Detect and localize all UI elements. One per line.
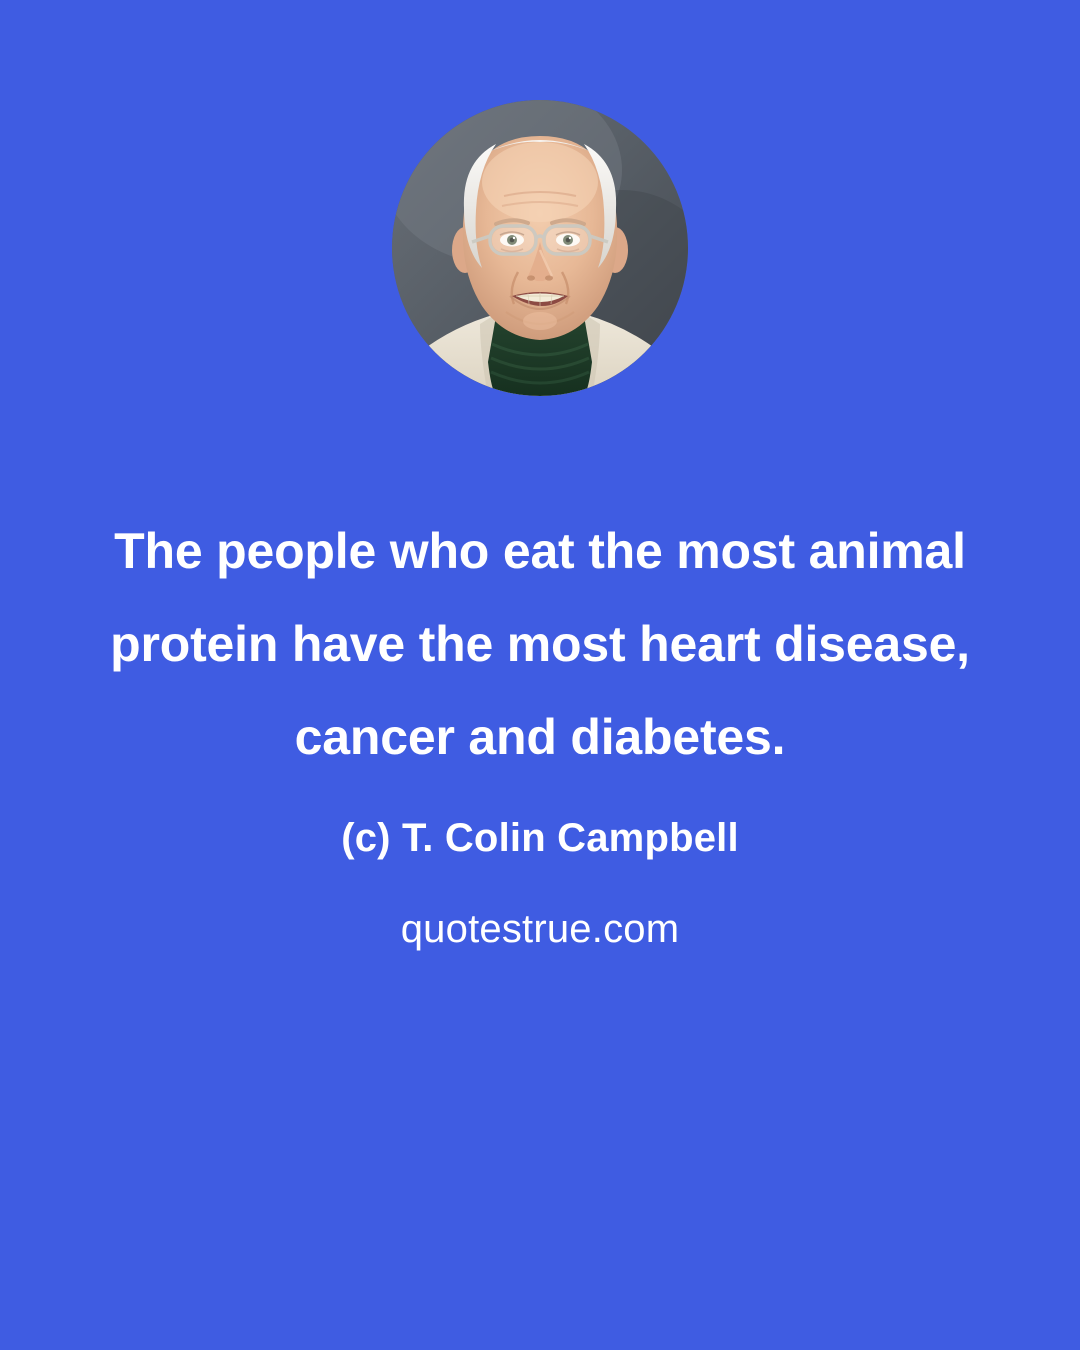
quote-card: The people who eat the most animal prote… xyxy=(0,0,1080,1350)
avatar xyxy=(392,100,688,396)
quote-attribution: (c) T. Colin Campbell xyxy=(0,812,1080,864)
quote-line-1: The people who eat the most animal xyxy=(64,505,1016,598)
quote-line-2: protein have the most heart disease, xyxy=(64,598,1016,691)
portrait-photo-illustration xyxy=(392,100,688,396)
source-website: quotestrue.com xyxy=(0,903,1080,955)
quote-line-3: cancer and diabetes. xyxy=(64,691,1016,784)
quote-text: The people who eat the most animal prote… xyxy=(0,505,1080,784)
